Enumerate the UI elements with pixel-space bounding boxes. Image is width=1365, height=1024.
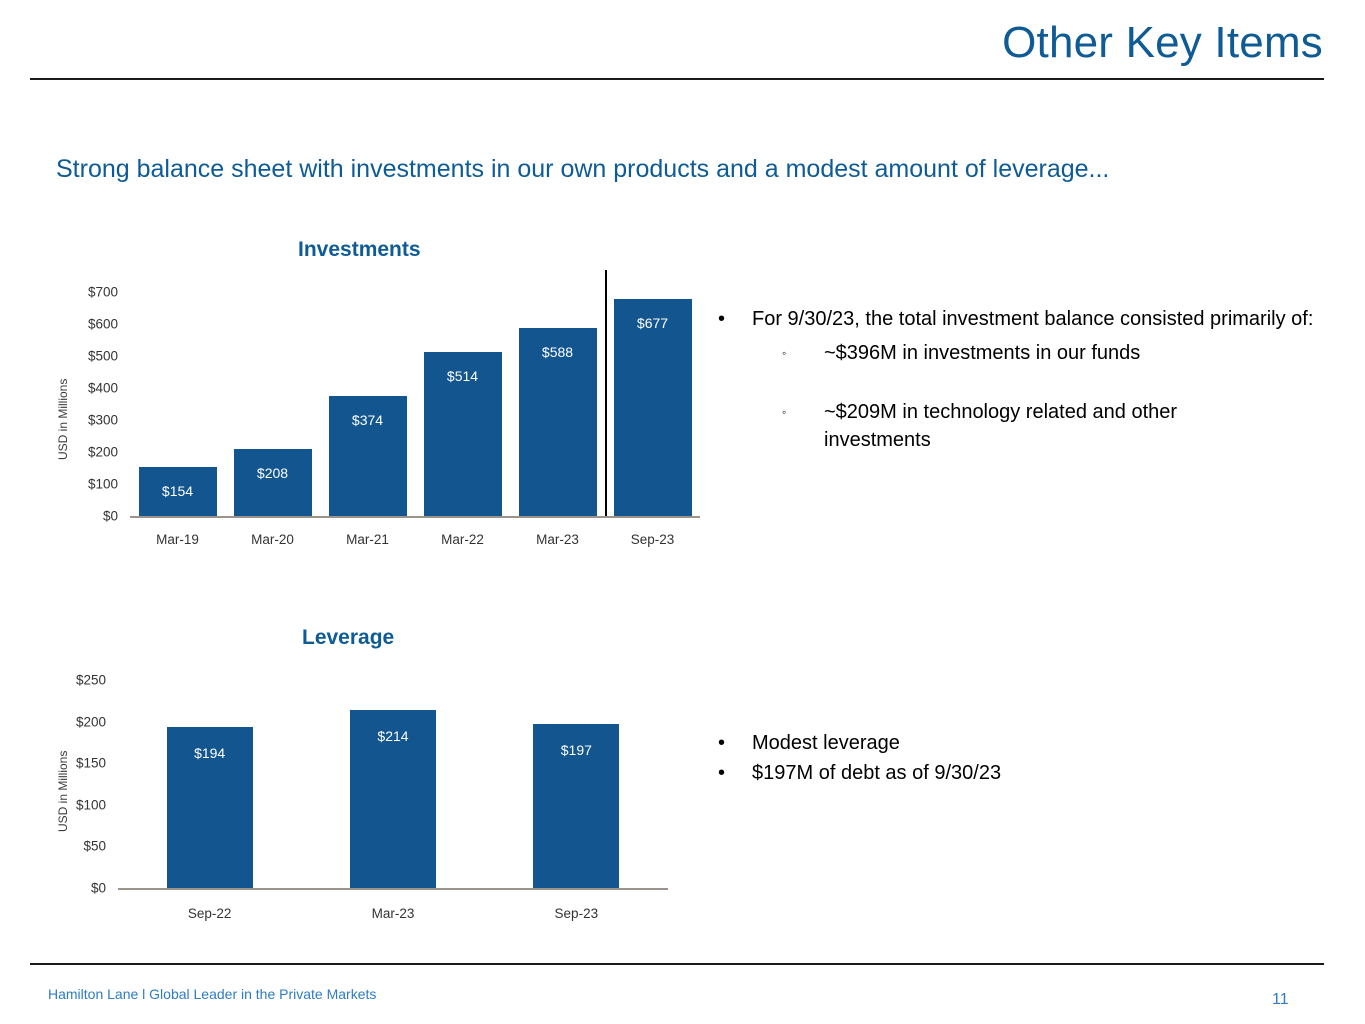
sub-bullet-label: ~$396M in investments in our funds xyxy=(824,340,1140,368)
x-axis-tick: Sep-23 xyxy=(605,532,700,547)
y-axis-tick: $0 xyxy=(38,881,106,896)
x-axis-line xyxy=(118,888,668,890)
y-axis-tick: $400 xyxy=(50,381,118,396)
bar-value-label: $194 xyxy=(167,745,253,761)
bullet-item: • For 9/30/23, the total investment bala… xyxy=(718,306,1318,334)
bullet-marker: • xyxy=(718,760,752,788)
bullet-marker: • xyxy=(718,730,752,758)
bullet-label: Modest leverage xyxy=(752,730,900,758)
leverage-plot-area: $0$50$100$150$200$250$194Sep-22$214Mar-2… xyxy=(0,600,720,940)
bullet-item: • $197M of debt as of 9/30/23 xyxy=(718,760,1318,788)
y-axis-tick: $50 xyxy=(38,839,106,854)
sub-bullet-label: ~$209M in technology related and other i… xyxy=(824,399,1264,454)
bar-value-label: $514 xyxy=(424,368,502,384)
y-axis-tick: $700 xyxy=(50,285,118,300)
bar-value-label: $197 xyxy=(533,742,619,758)
y-axis-tick: $600 xyxy=(50,317,118,332)
y-axis-tick: $300 xyxy=(50,413,118,428)
x-axis-tick: Mar-22 xyxy=(415,532,510,547)
sub-bullet-item: ◦ ~$396M in investments in our funds xyxy=(782,340,1318,368)
bullet-spacer xyxy=(718,369,1318,393)
y-axis-tick: $250 xyxy=(38,673,106,688)
bar xyxy=(614,299,692,516)
page-title: Other Key Items xyxy=(1002,18,1323,68)
bar-value-label: $588 xyxy=(519,344,597,360)
x-axis-tick: Mar-20 xyxy=(225,532,320,547)
bullet-label: For 9/30/23, the total investment balanc… xyxy=(752,306,1313,334)
bar-value-label: $154 xyxy=(139,483,217,499)
y-axis-tick: $200 xyxy=(50,445,118,460)
x-axis-tick: Mar-21 xyxy=(320,532,415,547)
investments-chart: Investments USD in Millions $0$100$200$3… xyxy=(0,0,720,560)
investments-plot-area: $0$100$200$300$400$500$600$700$154Mar-19… xyxy=(0,0,720,560)
y-axis-tick: $200 xyxy=(38,714,106,729)
bullet-label: $197M of debt as of 9/30/23 xyxy=(752,760,1001,788)
period-divider-line xyxy=(605,270,607,516)
bar xyxy=(234,449,312,516)
sub-bullet-marker: ◦ xyxy=(782,340,824,368)
leverage-bullets: • Modest leverage • $197M of debt as of … xyxy=(718,730,1318,789)
bar-value-label: $214 xyxy=(350,728,436,744)
y-axis-tick: $150 xyxy=(38,756,106,771)
bar-value-label: $208 xyxy=(234,465,312,481)
bar-value-label: $677 xyxy=(614,315,692,331)
y-axis-tick: $100 xyxy=(38,797,106,812)
page-number: 11 xyxy=(1272,991,1289,1009)
x-axis-tick: Mar-23 xyxy=(301,906,484,921)
x-axis-tick: Mar-23 xyxy=(510,532,605,547)
sub-bullet-item: ◦ ~$209M in technology related and other… xyxy=(782,399,1318,454)
bullet-item: • Modest leverage xyxy=(718,730,1318,758)
bullet-marker: • xyxy=(718,306,752,334)
footer-divider xyxy=(30,963,1324,965)
sub-bullet-marker: ◦ xyxy=(782,399,824,427)
bar-value-label: $374 xyxy=(329,412,407,428)
x-axis-tick: Sep-23 xyxy=(485,906,668,921)
investments-bullets: • For 9/30/23, the total investment bala… xyxy=(718,306,1318,456)
x-axis-tick: Mar-19 xyxy=(130,532,225,547)
leverage-chart: Leverage USD in Millions $0$50$100$150$2… xyxy=(0,600,720,940)
footer-tagline: Hamilton Lane l Global Leader in the Pri… xyxy=(48,986,376,1002)
y-axis-tick: $500 xyxy=(50,349,118,364)
slide-root: Other Key Items Strong balance sheet wit… xyxy=(0,0,1365,1024)
y-axis-tick: $100 xyxy=(50,477,118,492)
y-axis-tick: $0 xyxy=(50,509,118,524)
x-axis-tick: Sep-22 xyxy=(118,906,301,921)
x-axis-line xyxy=(130,516,700,518)
